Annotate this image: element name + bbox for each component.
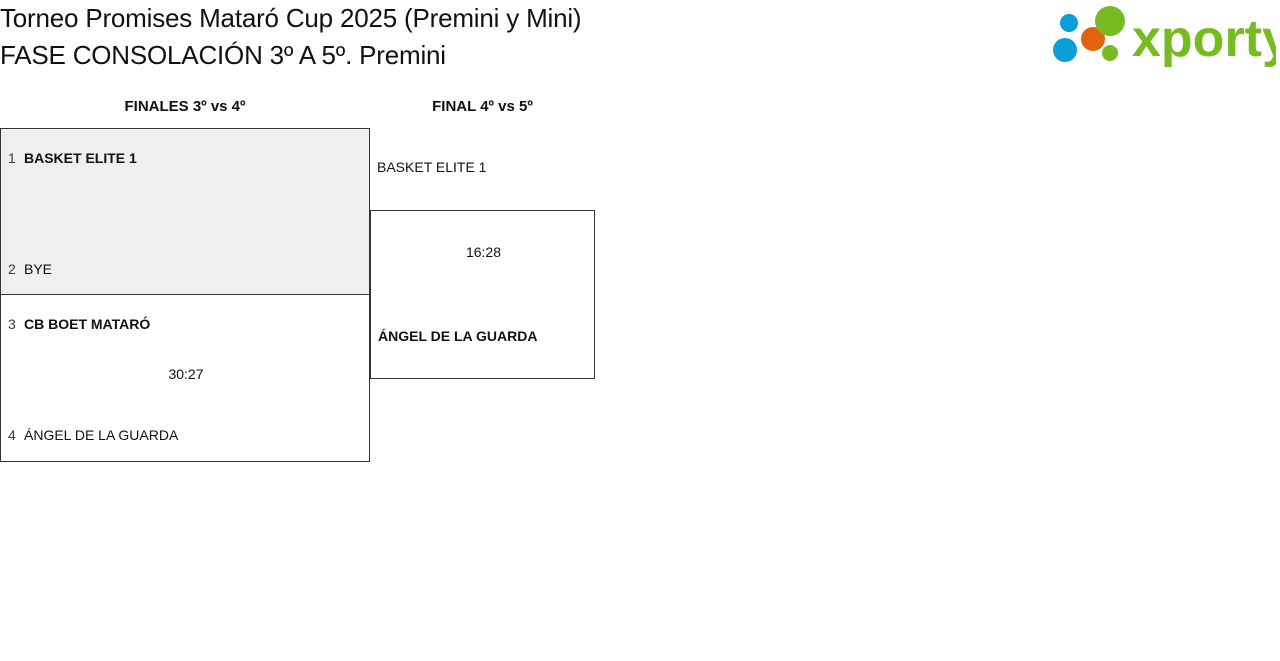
seed-number: 1: [1, 150, 17, 166]
seed-number: 4: [1, 427, 17, 443]
page-title: Torneo Promises Mataró Cup 2025 (Premini…: [0, 0, 900, 74]
match-box[interactable]: 1 BASKET ELITE 1 2 BYE: [0, 128, 370, 295]
round-header-final-4-5: FINAL 4º vs 5º: [370, 98, 595, 115]
match-slot[interactable]: 3 CB BOET MATARÓ: [1, 313, 371, 335]
team-name: CB BOET MATARÓ: [17, 316, 150, 332]
phase-title: FASE CONSOLACIÓN 3º A 5º. Premini: [0, 37, 900, 74]
seed-number: 2: [1, 261, 17, 277]
match-slot[interactable]: 4 ÁNGEL DE LA GUARDA: [1, 424, 371, 446]
logo-wordmark: xporty: [1132, 10, 1276, 68]
seed-number: 3: [1, 316, 17, 332]
final-match-box[interactable]: 16:28 ÁNGEL DE LA GUARDA: [370, 210, 595, 379]
advanced-team-label: BASKET ELITE 1: [377, 159, 486, 175]
team-name: ÁNGEL DE LA GUARDA: [17, 427, 178, 443]
match-box[interactable]: 3 CB BOET MATARÓ 4 ÁNGEL DE LA GUARDA 30…: [0, 295, 370, 462]
xporty-logo[interactable]: xporty: [1048, 6, 1276, 68]
logo-dots-icon: [1053, 6, 1125, 62]
round-header-finales-3-4: FINALES 3º vs 4º: [0, 98, 370, 115]
final-match-score: 16:28: [371, 244, 596, 260]
tournament-title: Torneo Promises Mataró Cup 2025 (Premini…: [0, 0, 900, 37]
match-slot[interactable]: 2 BYE: [1, 258, 371, 280]
team-name: BYE: [17, 261, 52, 277]
match-slot[interactable]: 1 BASKET ELITE 1: [1, 147, 371, 169]
match-score: 30:27: [1, 366, 371, 382]
team-name: BASKET ELITE 1: [17, 150, 137, 166]
round-1-column: 1 BASKET ELITE 1 2 BYE 3 CB BOET MATARÓ …: [0, 128, 370, 462]
bracket-page: Torneo Promises Mataró Cup 2025 (Premini…: [0, 0, 1280, 661]
final-winner-team: ÁNGEL DE LA GUARDA: [378, 328, 537, 344]
